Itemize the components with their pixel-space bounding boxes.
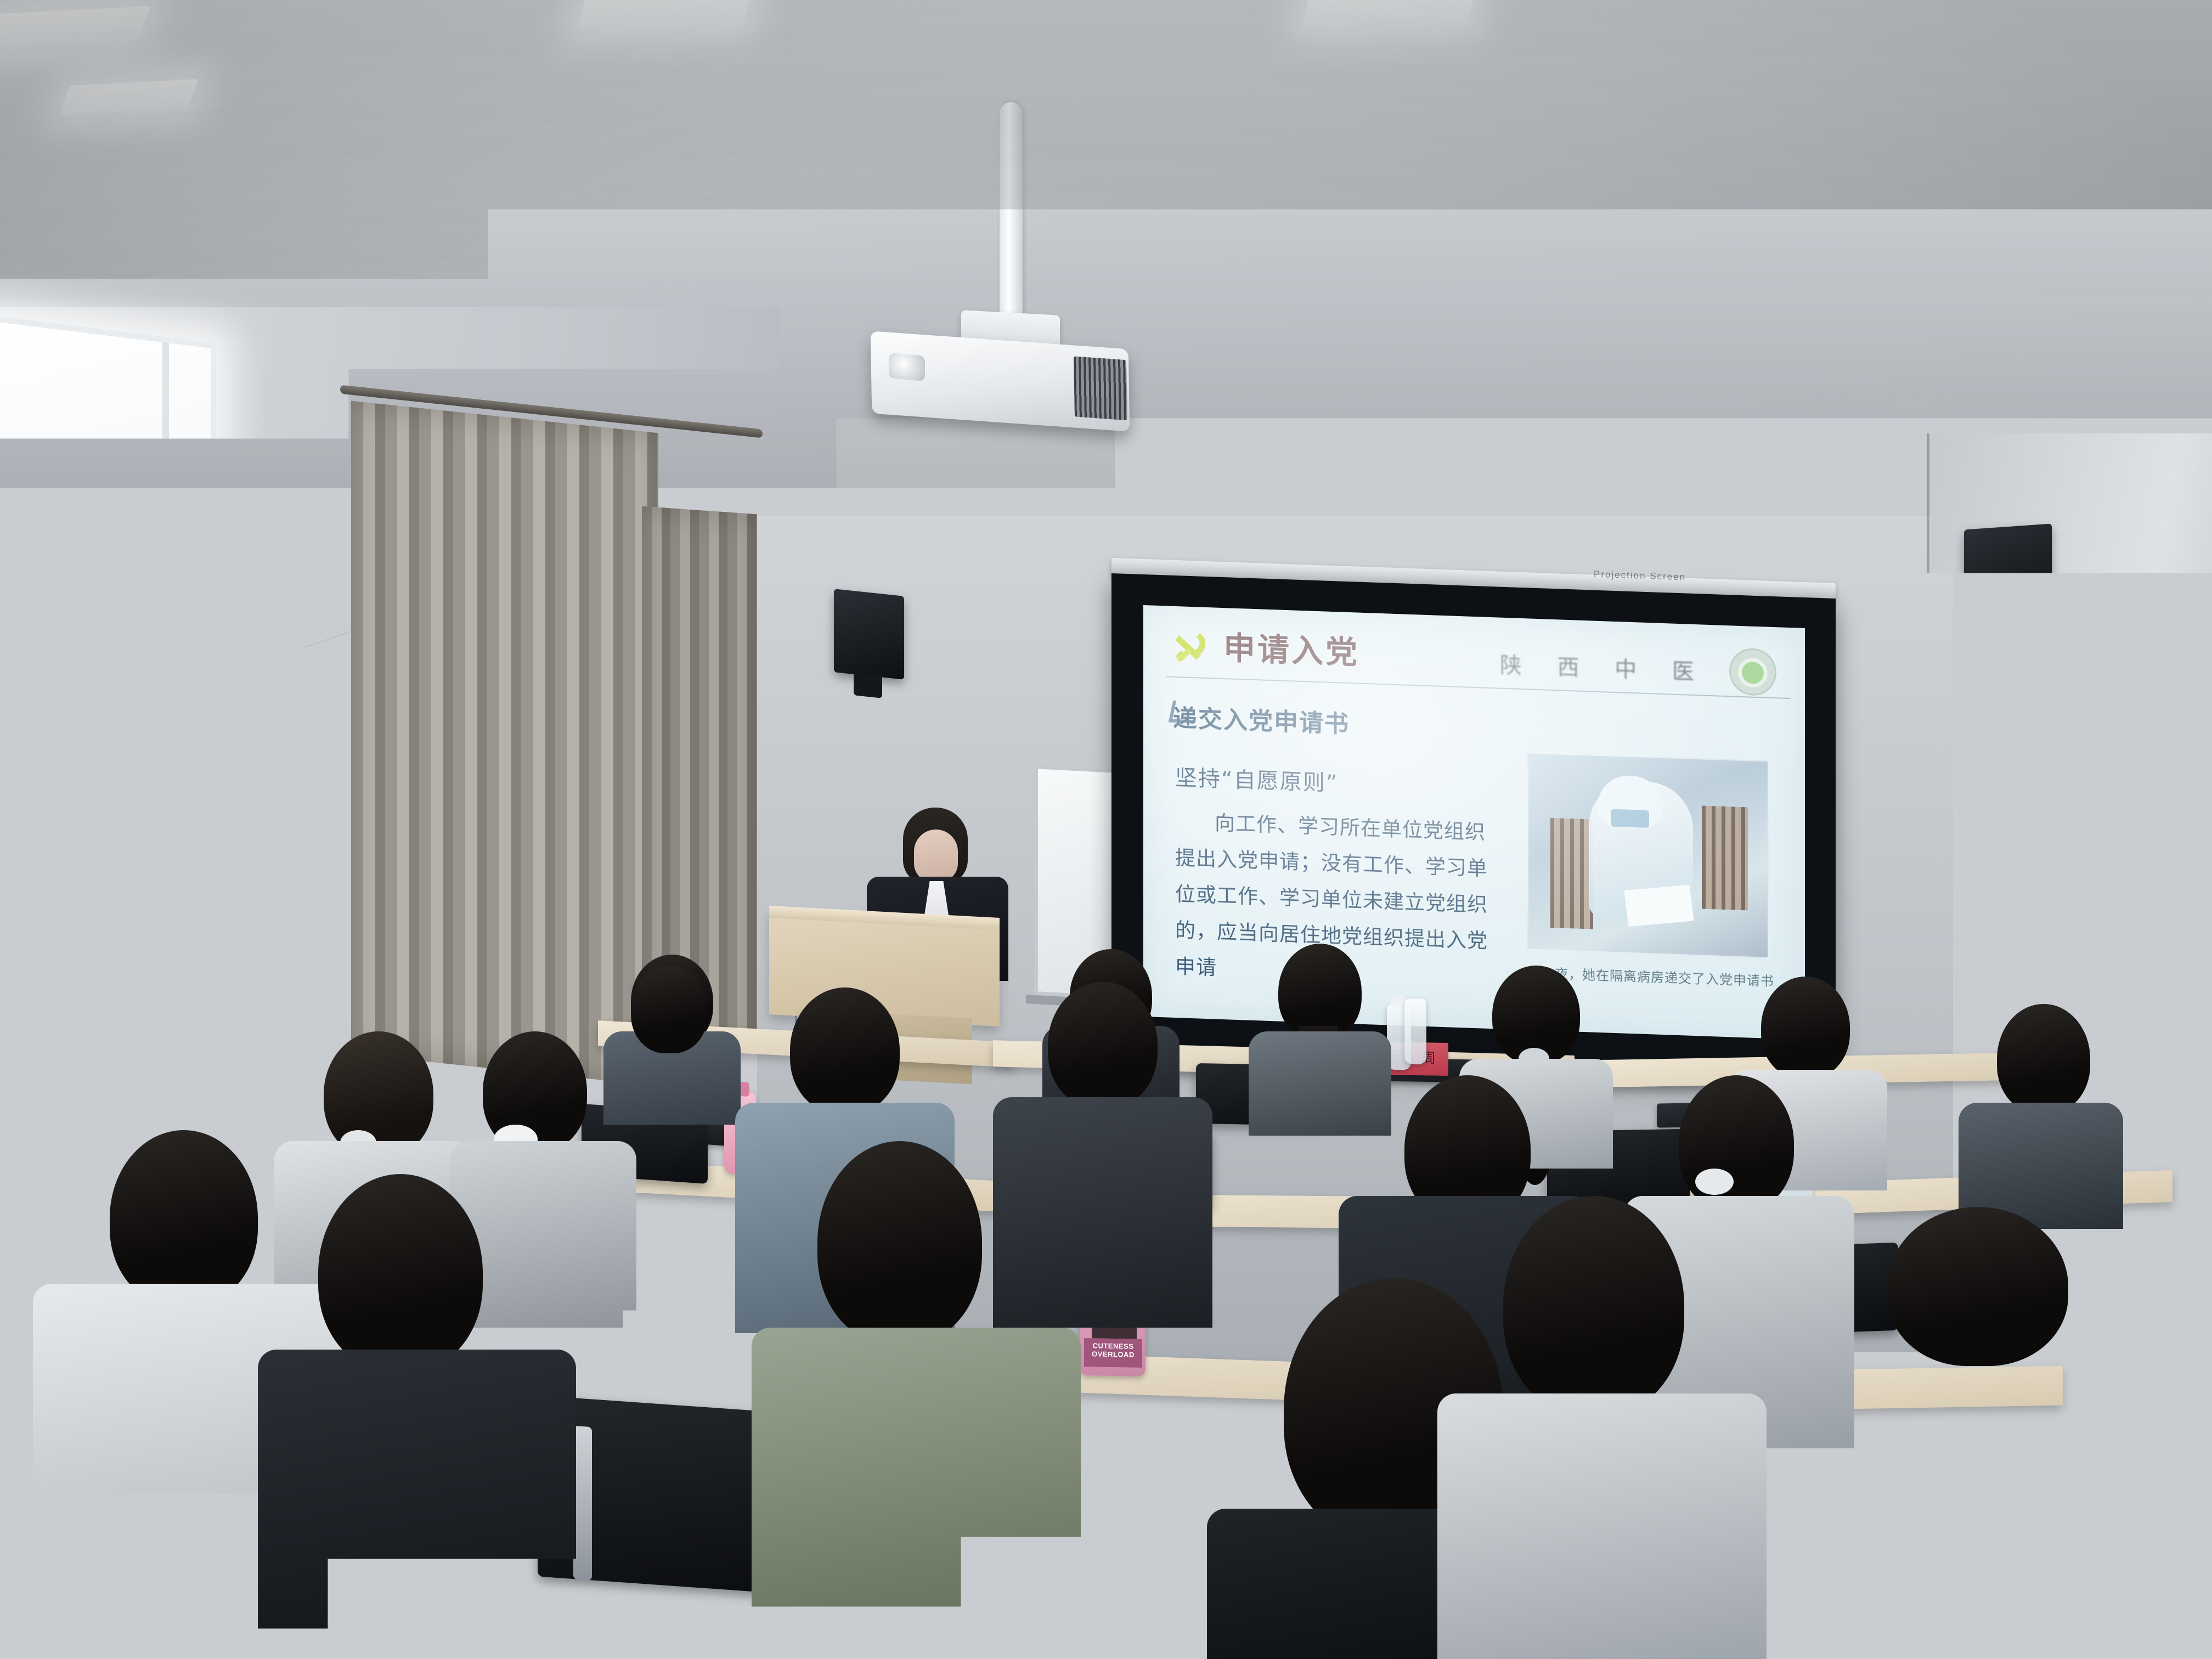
student-torso-near-3 — [752, 1328, 1081, 1659]
projector-lens — [889, 353, 925, 381]
student-torso-near-2 — [258, 1350, 576, 1659]
student-head-far-7 — [631, 966, 708, 1053]
photo-figure-mask — [1611, 809, 1649, 828]
institution-logo — [1729, 647, 1776, 696]
curtain-left — [351, 401, 658, 1086]
slide-photo — [1527, 752, 1769, 958]
projector-vent — [1074, 356, 1127, 420]
student-head-mid-4 — [1048, 982, 1158, 1108]
wall-speaker-left — [834, 589, 904, 679]
slide-lead-text: 坚持“自愿原则” — [1175, 760, 1338, 797]
student-scrunchie-mid-6 — [1695, 1169, 1734, 1195]
student-head-near-5 — [1503, 1196, 1684, 1415]
student-head-mid-3 — [790, 988, 900, 1114]
student-head-mid-1 — [324, 1031, 433, 1158]
photo-application-paper — [1624, 885, 1694, 927]
chair-arm-2 — [573, 1426, 592, 1581]
ceiling-light-4 — [1303, 0, 1474, 27]
water-bottle-clear-1-cap — [1391, 995, 1406, 1007]
student-head-near-1 — [110, 1130, 258, 1306]
student-torso-near-5 — [1437, 1393, 1767, 1659]
photo-chair-right — [1702, 805, 1748, 910]
wall-speaker-left-stem — [854, 672, 882, 698]
bottle-label-text: CUTENESS OVERLOAD — [1084, 1338, 1142, 1368]
wall-speaker-right-stem — [1979, 616, 2012, 645]
student-head-near-3 — [817, 1141, 982, 1344]
presenter-face — [914, 830, 958, 882]
photo-chair-left — [1550, 818, 1593, 929]
presentation-slide: 申请入党 陕 西 中 医 递交入党申请书 坚持“自愿原则” 向工作、学习所在单位… — [1143, 605, 1805, 1040]
student-head-far-6 — [1997, 1004, 2090, 1114]
slide-header: 申请入党 陕 西 中 医 — [1166, 620, 1791, 697]
student-torso-far-3 — [1249, 1031, 1391, 1136]
hoodie-graphic — [1827, 1553, 2112, 1659]
water-bottle-clear-2 — [1404, 998, 1426, 1065]
student-head-far-5 — [1761, 977, 1850, 1079]
wall-speaker-right — [1964, 523, 2052, 623]
classroom-photo: Projection Screen 申请入党 陕 西 中 医 递交入党申请书 坚… — [0, 0, 2212, 1659]
student-head-near-2 — [318, 1174, 483, 1372]
slide-organization-text: 陕 西 中 医 — [1500, 647, 1708, 686]
slide-title: 申请入党 — [1223, 629, 1359, 672]
classroom-window-left — [0, 315, 216, 837]
student-torso-mid-4 — [993, 1097, 1212, 1328]
slide-subheading: 递交入党申请书 — [1173, 698, 1350, 740]
party-emblem-icon — [1166, 624, 1215, 669]
student-head-mid-6 — [1679, 1075, 1794, 1212]
projector-mount-pole — [1000, 102, 1023, 332]
